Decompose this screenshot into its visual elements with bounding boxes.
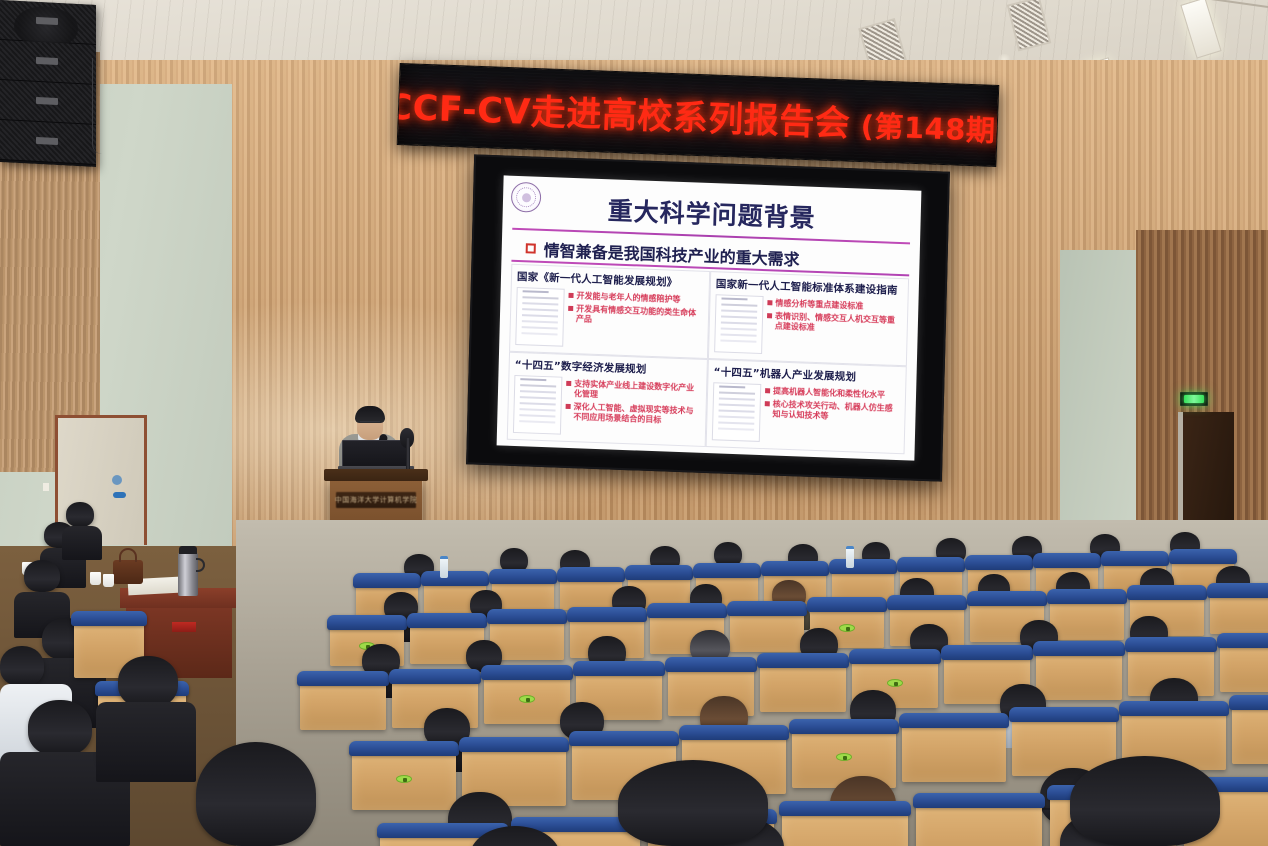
door-sign [43, 483, 49, 491]
seat-number-tag [887, 679, 903, 687]
auditorium-seat[interactable] [300, 680, 386, 730]
auditorium-seat[interactable] [760, 662, 846, 712]
bullet-square-icon [566, 381, 571, 386]
podium-top-surface [324, 469, 428, 481]
projection-screen: 重大科学问题背景 情智兼备是我国科技产业的重大需求 国家《新一代人工智能发展规划… [466, 154, 950, 481]
seat-number-tag [839, 624, 855, 632]
quadrant-body: 提高机器人智能化和柔性化水平 核心技术攻关行动、机器人仿生感知与认知技术等 [712, 382, 900, 447]
laptop-screen [342, 440, 410, 468]
speaker-badge [36, 17, 58, 25]
speaker-unit [0, 0, 96, 45]
attendee-torso [96, 702, 196, 782]
bullet-item: 表情识别、情感交互人机交互等重点建设标准 [767, 311, 902, 336]
slide-quadrant: “十四五”机器人产业发展规划 提高机器人智能化和柔性化水平 核心技术攻关行动、机… [706, 359, 907, 454]
bullet-item: 支持实体产业线上建设数字化产业化管理 [566, 379, 701, 404]
green-wall-panel-right [1060, 250, 1138, 560]
bullet-text: 核心技术攻关行动、机器人仿生感知与认知技术等 [772, 399, 899, 424]
speaker-unit [0, 40, 96, 85]
bullet-item: 开发能与老年人的情感陪护等 [568, 291, 703, 306]
speaker-unit [0, 120, 96, 165]
speaker-badge [36, 137, 58, 145]
bullet-square-icon [566, 404, 571, 409]
auditorium-photo: CCF-CV走进高校系列报告会 (第148期) 重大科学问题背景 情智兼备是我国… [0, 0, 1268, 846]
auditorium-seat[interactable] [916, 802, 1042, 846]
bullet-square-icon [765, 401, 770, 406]
attendee-head [0, 646, 44, 686]
seat-number-tag [519, 695, 535, 703]
auditorium-seat[interactable] [484, 674, 570, 724]
slide-quadrant: 国家《新一代人工智能发展规划》 开发能与老年人的情感陪护等 开发具有情感交互功能… [509, 264, 710, 359]
banner-main-text: CCF-CV走进高校系列报告会 [397, 87, 851, 144]
bullet-text: 深化人工智能、虚拟现实等技术与不同应用场景结合的目标 [573, 402, 700, 427]
water-bottle [846, 546, 854, 568]
quadrant-bullets: 开发能与老年人的情感陪护等 开发具有情感交互功能的类生命体产品 [567, 289, 703, 352]
bullet-item: 开发具有情感交互功能的类生命体产品 [568, 304, 703, 329]
slide-quadrant: “十四五”数字经济发展规划 支持实体产业线上建设数字化产业化管理 深化人工智能、… [507, 352, 708, 447]
quadrant-body: 情感分析等重点建设标准 表情识别、情感交互人机交互等重点建设标准 [714, 294, 902, 359]
bullet-square-icon [568, 306, 573, 311]
speaker-badge [36, 57, 58, 65]
bullet-item: 情感分析等重点建设标准 [767, 298, 902, 313]
quadrant-bullets: 提高机器人智能化和柔性化水平 核心技术攻关行动、机器人仿生感知与认知技术等 [764, 384, 900, 447]
bullet-square-icon [568, 293, 573, 298]
bullet-item: 核心技术攻关行动、机器人仿生感知与认知技术等 [764, 399, 899, 424]
door-plate-icon [112, 475, 122, 485]
bullet-text: 支持实体产业线上建设数字化产业化管理 [574, 379, 701, 404]
speaker-cable [92, 58, 102, 154]
bullet-item: 提高机器人智能化和柔性化水平 [765, 386, 900, 401]
attendee-head [1070, 756, 1220, 846]
bullet-text: 表情识别、情感交互人机交互等重点建设标准 [775, 311, 902, 336]
auditorium-seat[interactable] [1220, 642, 1268, 692]
bullet-square-icon [767, 300, 772, 305]
attendee-torso [62, 526, 102, 560]
attendee-head [24, 560, 60, 592]
banner-text: CCF-CV走进高校系列报告会 (第148期) [397, 78, 1000, 152]
attendee-head [66, 502, 94, 527]
document-thumbnail-icon [712, 382, 761, 442]
seat-number-tag [396, 775, 412, 783]
bullet-text: 开发具有情感交互功能的类生命体产品 [576, 304, 703, 329]
document-thumbnail-icon [515, 287, 564, 347]
bullet-square-icon [526, 243, 536, 253]
speaker-unit [0, 80, 96, 125]
quadrant-bullets: 支持实体产业线上建设数字化产业化管理 深化人工智能、虚拟现实等技术与不同应用场景… [565, 377, 701, 440]
exit-sign [1180, 392, 1208, 406]
bullet-square-icon [767, 313, 772, 318]
line-array-speaker [0, 0, 96, 167]
door-handle-icon[interactable] [113, 492, 126, 498]
attendee-head [118, 656, 178, 708]
presentation-slide: 重大科学问题背景 情智兼备是我国科技产业的重大需求 国家《新一代人工智能发展规划… [497, 175, 922, 460]
banner-suffix-text: (第148期) [850, 108, 1000, 148]
auditorium-seat[interactable] [1210, 592, 1268, 634]
bullet-text: 情感分析等重点建设标准 [775, 298, 863, 311]
slide-quadrant: 国家新一代人工智能标准体系建设指南 情感分析等重点建设标准 表情识别、情感交互人… [708, 271, 909, 366]
exit-sign-icon [1184, 395, 1204, 403]
bullet-text: 开发能与老年人的情感陪护等 [576, 291, 680, 305]
speaker-badge [36, 97, 58, 105]
document-thumbnail-icon [714, 294, 763, 354]
document-thumbnail-icon [513, 375, 562, 435]
auditorium-seat[interactable] [782, 810, 908, 846]
bullet-square-icon [765, 388, 770, 393]
podium-nameplate: 中国海洋大学计算机学院 [336, 492, 416, 508]
auditorium-seat[interactable] [1232, 704, 1268, 764]
auditorium-seat[interactable] [902, 722, 1006, 782]
attendee-head [618, 760, 768, 846]
auditorium-seat[interactable] [352, 750, 456, 810]
bullet-text: 提高机器人智能化和柔性化水平 [773, 386, 885, 400]
auditorium-seat[interactable] [730, 610, 804, 652]
slide-quadrant-grid: 国家《新一代人工智能发展规划》 开发能与老年人的情感陪护等 开发具有情感交互功能… [507, 264, 909, 455]
presenter-glasses-icon [360, 421, 380, 426]
auditorium-seat[interactable] [1050, 598, 1124, 640]
water-bottle [440, 556, 448, 578]
seat-number-tag [836, 753, 852, 761]
bullet-item: 深化人工智能、虚拟现实等技术与不同应用场景结合的目标 [565, 402, 700, 427]
quadrant-bullets: 情感分析等重点建设标准 表情识别、情感交互人机交互等重点建设标准 [766, 296, 902, 359]
quadrant-body: 开发能与老年人的情感陪护等 开发具有情感交互功能的类生命体产品 [515, 287, 703, 352]
quadrant-body: 支持实体产业线上建设数字化产业化管理 深化人工智能、虚拟现实等技术与不同应用场景… [513, 375, 701, 440]
attendee-head [28, 700, 92, 756]
attendee-head [196, 742, 316, 846]
auditorium-seat[interactable] [1036, 650, 1122, 700]
